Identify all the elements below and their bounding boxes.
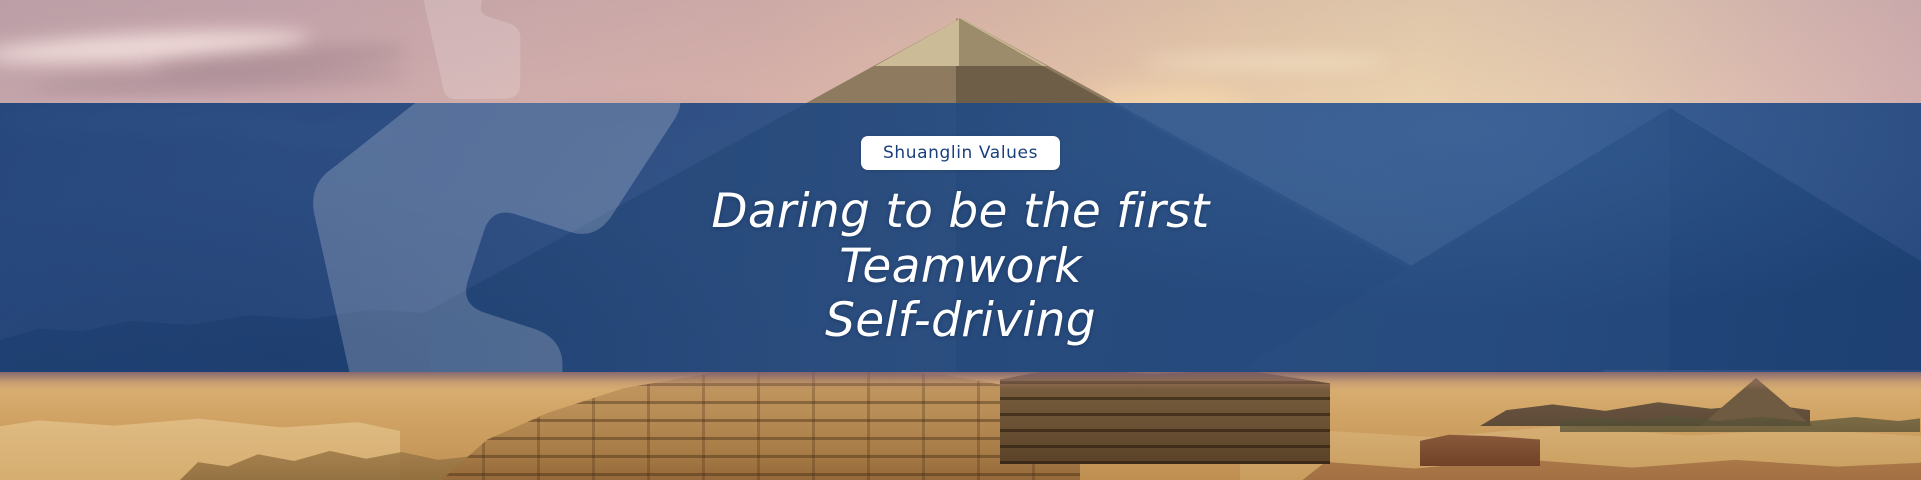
headline-line-1: Daring to be the first (711, 185, 1209, 240)
horizon-haze (0, 372, 1921, 390)
headline-block: Daring to be the first Teamwork Self-dri… (711, 185, 1209, 349)
headline-line-3: Self-driving (711, 294, 1209, 349)
values-badge-label: Shuanglin Values (883, 143, 1038, 163)
desert-foreground (0, 372, 1921, 480)
pyramid-cap-shadow (959, 18, 1043, 66)
headline-line-2: Teamwork (711, 240, 1209, 295)
values-hero-banner: Shuanglin Values Daring to be the first … (0, 0, 1921, 480)
banner-content: Shuanglin Values Daring to be the first … (0, 103, 1921, 372)
values-badge: Shuanglin Values (861, 136, 1060, 170)
